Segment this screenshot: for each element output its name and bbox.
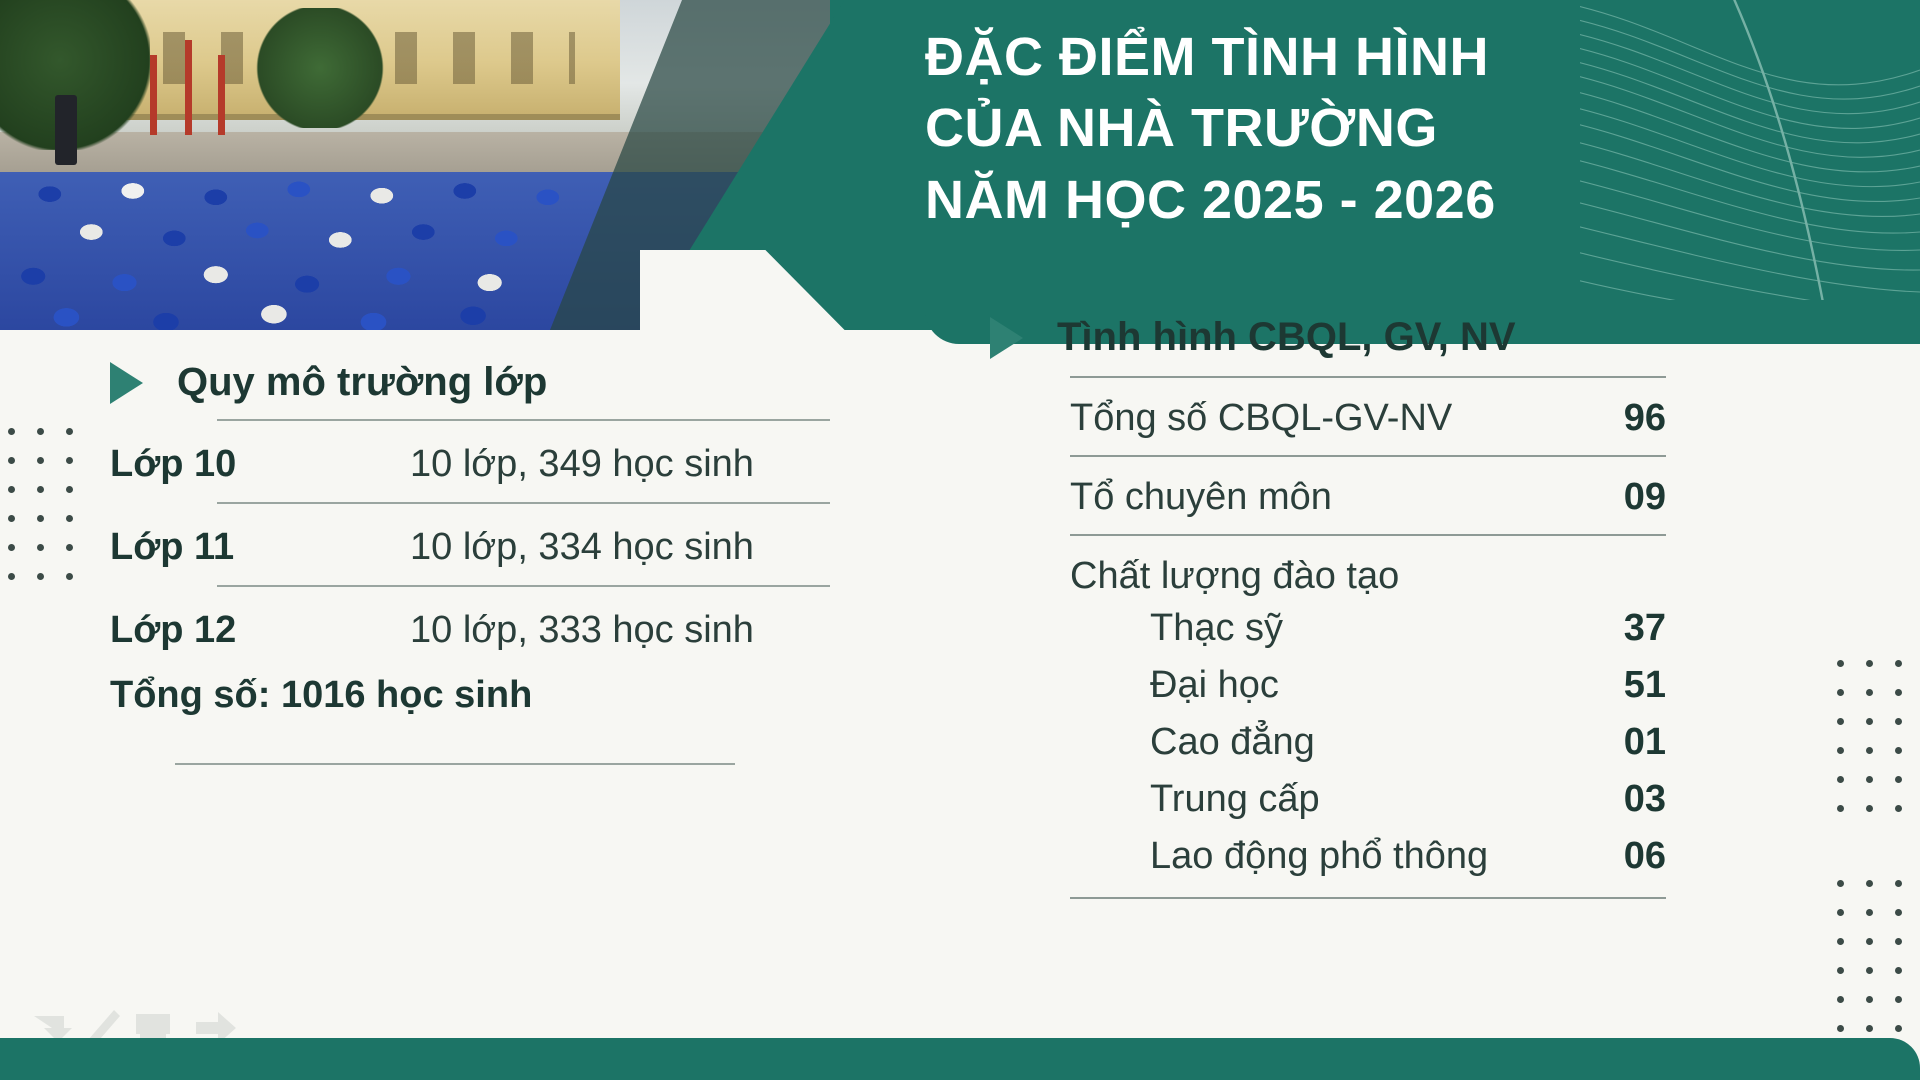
panel-school-scale: Quy mô trường lớp Lớp 10 10 lớp, 349 học… [110, 360, 830, 765]
decor-dot [8, 457, 15, 464]
grade-label: Lớp 12 [110, 609, 410, 652]
page-title: ĐẶC ĐIỂM TÌNH HÌNH CỦA NHÀ TRƯỜNG NĂM HỌ… [925, 22, 1665, 236]
staff-value: 96 [1624, 397, 1666, 440]
decor-dot [8, 515, 15, 522]
decor-dot [1837, 938, 1844, 945]
decor-dot [1895, 880, 1902, 887]
decor-dot [1895, 1025, 1902, 1032]
qualification-value: 37 [1624, 607, 1666, 650]
left-panel-header: Quy mô trường lớp [110, 360, 830, 405]
decor-dot [37, 457, 44, 464]
qualification-label: Đại học [1150, 664, 1279, 707]
main-content: Quy mô trường lớp Lớp 10 10 lớp, 349 học… [0, 330, 1920, 1050]
table-row: Lớp 12 10 lớp, 333 học sinh [110, 587, 830, 668]
decor-dot [1895, 660, 1902, 667]
decor-dot [1895, 938, 1902, 945]
decor-dot [1895, 967, 1902, 974]
grade-value: 10 lớp, 333 học sinh [410, 609, 754, 652]
footer-bar [0, 1038, 1920, 1080]
decor-dot [1895, 689, 1902, 696]
staff-value: 09 [1624, 476, 1666, 519]
decor-dot [1837, 747, 1844, 754]
decor-dot [1895, 747, 1902, 754]
right-panel-bottom-divider [1070, 897, 1666, 899]
decor-dot [66, 544, 73, 551]
decor-dot [66, 428, 73, 435]
decor-dot [1866, 689, 1873, 696]
decor-dot [66, 515, 73, 522]
decor-dot [1837, 880, 1844, 887]
decor-dot [66, 486, 73, 493]
training-quality-title: Chất lượng đào tạo [990, 536, 1730, 600]
page-title-line-3: NĂM HỌC 2025 - 2026 [925, 165, 1665, 236]
staff-label: Tổng số CBQL-GV-NV [1070, 397, 1452, 440]
page-title-line-1: ĐẶC ĐIỂM TÌNH HÌNH [925, 22, 1665, 93]
table-row: Tổng số CBQL-GV-NV 96 [990, 378, 1666, 455]
decor-dot [1866, 909, 1873, 916]
header-band: ĐẶC ĐIỂM TÌNH HÌNH CỦA NHÀ TRƯỜNG NĂM HỌ… [0, 0, 1920, 330]
decor-dot [1895, 718, 1902, 725]
decor-dot [1866, 880, 1873, 887]
photo-person-standing [55, 95, 77, 165]
table-row: Tổ chuyên môn 09 [990, 457, 1666, 534]
decor-dot [1866, 776, 1873, 783]
list-item: Cao đẳng 01 [990, 714, 1666, 771]
decor-dot [1866, 660, 1873, 667]
play-triangle-icon [110, 362, 143, 404]
play-triangle-icon [990, 317, 1023, 359]
decor-dot [1837, 776, 1844, 783]
decor-dot [1837, 967, 1844, 974]
qualification-value: 51 [1624, 664, 1666, 707]
table-row: Lớp 11 10 lớp, 334 học sinh [110, 504, 830, 585]
qualification-label: Trung cấp [1150, 778, 1320, 821]
decor-dot [1866, 967, 1873, 974]
decor-dot [37, 486, 44, 493]
decor-dot [1866, 996, 1873, 1003]
table-row: Lớp 10 10 lớp, 349 học sinh [110, 421, 830, 502]
decor-dot [1895, 996, 1902, 1003]
qualification-label: Thạc sỹ [1150, 607, 1283, 650]
grade-label: Lớp 10 [110, 443, 410, 486]
list-item: Lao động phổ thông 06 [990, 828, 1666, 885]
qualification-label: Cao đẳng [1150, 721, 1315, 764]
decor-dot [66, 457, 73, 464]
decor-dot [1895, 776, 1902, 783]
qualification-value: 03 [1624, 778, 1666, 821]
photo-tree-center [255, 8, 385, 128]
panel-staff-situation: Tình hình CBQL, GV, NV Tổng số CBQL-GV-N… [990, 315, 1730, 899]
decor-dot [1866, 718, 1873, 725]
qualification-value: 01 [1624, 721, 1666, 764]
decor-dot [8, 544, 15, 551]
decor-dot [1837, 689, 1844, 696]
student-total: Tổng số: 1016 học sinh [110, 668, 830, 717]
photo-flagpole-right [218, 55, 225, 135]
qualification-label: Lao động phổ thông [1150, 835, 1488, 878]
decor-dot [8, 573, 15, 580]
dot-grid-decoration-right-lower [1837, 880, 1902, 1032]
header-band-edge [640, 0, 970, 330]
photo-flagpole-left [150, 55, 157, 135]
decor-dot [1866, 805, 1873, 812]
decor-dot [37, 573, 44, 580]
decor-dot [1837, 805, 1844, 812]
decor-dot [1837, 660, 1844, 667]
decor-dot [1837, 1025, 1844, 1032]
grade-value: 10 lớp, 334 học sinh [410, 526, 754, 569]
decor-dot [1866, 1025, 1873, 1032]
list-item: Trung cấp 03 [990, 771, 1666, 828]
page-title-line-2: CỦA NHÀ TRƯỜNG [925, 93, 1665, 164]
grade-value: 10 lớp, 349 học sinh [410, 443, 754, 486]
dot-grid-decoration-left [8, 428, 73, 580]
dot-grid-decoration-right-upper [1837, 660, 1902, 812]
decor-dot [1866, 747, 1873, 754]
decor-dot [1895, 909, 1902, 916]
left-panel-title: Quy mô trường lớp [177, 360, 547, 405]
decor-dot [8, 428, 15, 435]
qualification-value: 06 [1624, 835, 1666, 878]
grade-label: Lớp 11 [110, 526, 410, 569]
decor-dot [1866, 938, 1873, 945]
decor-dot [37, 428, 44, 435]
list-item: Đại học 51 [990, 657, 1666, 714]
decor-dot [37, 515, 44, 522]
decor-dot [37, 544, 44, 551]
left-panel-bottom-divider [175, 763, 735, 765]
decor-dot [1837, 718, 1844, 725]
decor-dot [1895, 805, 1902, 812]
list-item: Thạc sỹ 37 [990, 600, 1666, 657]
decor-dot [1837, 909, 1844, 916]
right-panel-header: Tình hình CBQL, GV, NV [990, 315, 1730, 360]
staff-label: Tổ chuyên môn [1070, 476, 1332, 519]
photo-flagpole-center [185, 40, 192, 135]
right-panel-title: Tình hình CBQL, GV, NV [1057, 315, 1516, 360]
decor-dot [8, 486, 15, 493]
decor-dot [1837, 996, 1844, 1003]
decor-dot [66, 573, 73, 580]
